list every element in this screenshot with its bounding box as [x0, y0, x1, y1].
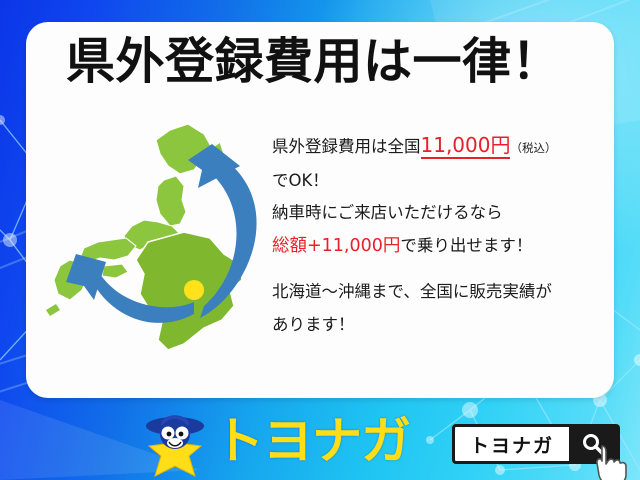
brand-wordmark: トヨナガ [214, 410, 424, 472]
body-copy: 県外登録費用は全国11,000円（税込） でOK！ 納車時にご来店いただけるなら… [272, 126, 602, 341]
japan-map-illustration [44, 114, 276, 386]
copy-spacer [272, 263, 602, 276]
content-card: 県外登録費用は一律！ [26, 22, 614, 398]
copy-line-2: でOK！ [272, 165, 602, 197]
copy-line-6: あります！ [272, 309, 602, 341]
mascot-logo [139, 404, 211, 480]
copy-line-1: 県外登録費用は全国11,000円（税込） [272, 126, 602, 165]
hand-cursor-icon [592, 444, 632, 480]
price-highlight: 11,000円 [421, 133, 511, 159]
copy-line-4: 総額+11,000円で乗り出せます！ [272, 229, 602, 263]
map-location-marker [184, 280, 204, 300]
copy-line-3: 納車時にご来店いただけるなら [272, 197, 602, 229]
page-title: 県外登録費用は一律！ [66, 36, 586, 87]
map-shikoku [102, 264, 128, 278]
map-okinawa [46, 304, 60, 316]
slide-canvas: 県外登録費用は一律！ [0, 0, 640, 480]
map-honshu-north [156, 176, 186, 226]
total-price-highlight: 総額+11,000円 [272, 236, 400, 256]
tax-note: （税込） [510, 141, 556, 155]
search-input[interactable]: トヨナガ [455, 427, 569, 461]
copy-line-5: 北海道～沖縄まで、全国に販売実績が [272, 276, 602, 308]
